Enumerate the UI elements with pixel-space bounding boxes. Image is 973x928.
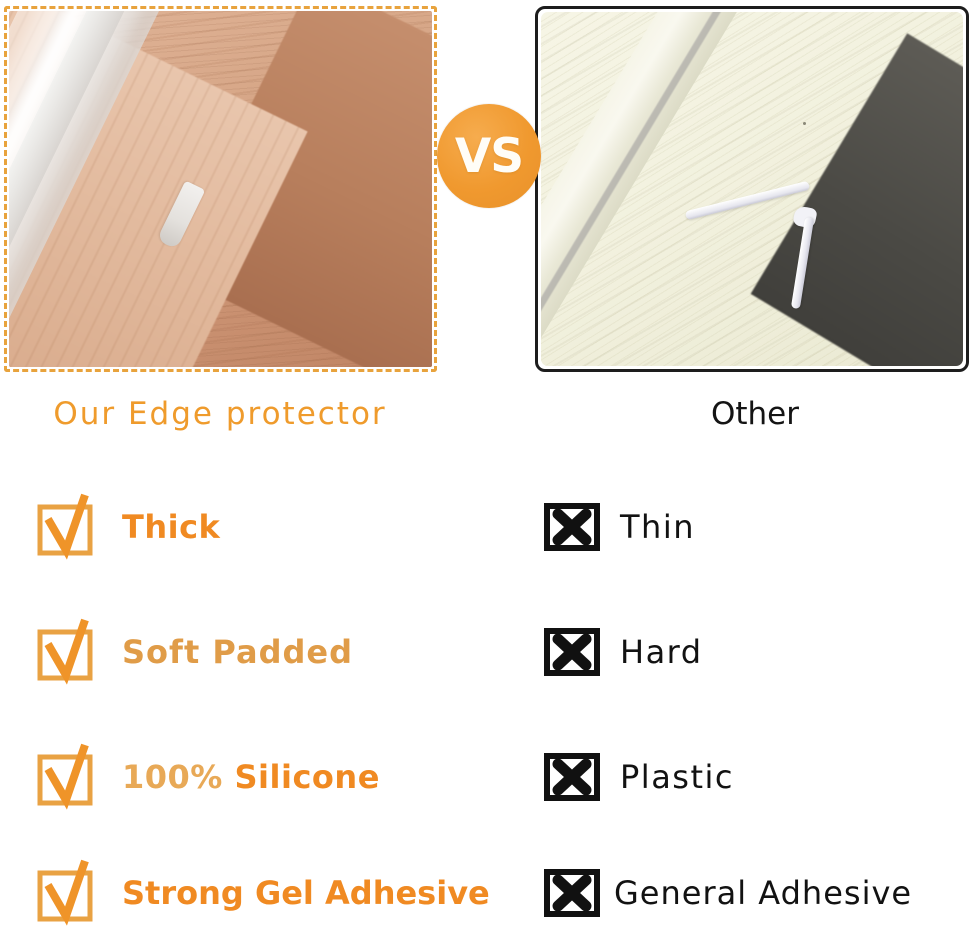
cross-box-icon — [544, 503, 600, 551]
checkmark-box-icon — [36, 859, 104, 927]
feature-label-other: Hard — [620, 636, 703, 668]
our-column-heading: Our Edge protector — [0, 396, 440, 433]
feature-row: Thin — [544, 492, 695, 562]
our-product-photo-panel — [4, 6, 437, 372]
surface-speck — [803, 122, 806, 125]
vs-badge-label: VS — [455, 133, 523, 180]
checkmark-box-icon — [36, 493, 104, 561]
feature-row: 100% Silicone — [36, 742, 380, 812]
feature-label-ours: Silicone — [235, 758, 380, 796]
cross-box-icon — [544, 628, 600, 676]
checkmark-box-icon — [36, 743, 104, 811]
our-product-photo — [9, 11, 432, 367]
feature-row: Thick — [36, 492, 220, 562]
feature-label-other: Thin — [620, 511, 695, 543]
vs-badge: VS — [437, 104, 541, 208]
feature-label-ours-prefix: 100% — [122, 758, 235, 796]
feature-row: General Adhesive — [544, 858, 912, 928]
feature-row: Strong Gel Adhesive — [36, 858, 490, 928]
cross-box-icon — [544, 869, 600, 917]
other-product-photo — [541, 12, 963, 366]
feature-label-ours: Strong Gel Adhesive — [122, 877, 490, 909]
feature-label-ours-group: 100% Silicone — [122, 761, 380, 793]
other-column-heading: Other — [535, 396, 973, 433]
other-product-photo-panel — [535, 6, 969, 372]
checkmark-box-icon — [36, 618, 104, 686]
feature-label-other: Plastic — [620, 761, 734, 793]
feature-label-ours: Thick — [122, 511, 220, 543]
cross-box-icon — [544, 753, 600, 801]
feature-row: Plastic — [544, 742, 734, 812]
feature-row: Soft Padded — [36, 617, 353, 687]
feature-row: Hard — [544, 617, 703, 687]
feature-label-ours: Soft Padded — [122, 636, 353, 668]
feature-label-other: General Adhesive — [614, 877, 912, 909]
